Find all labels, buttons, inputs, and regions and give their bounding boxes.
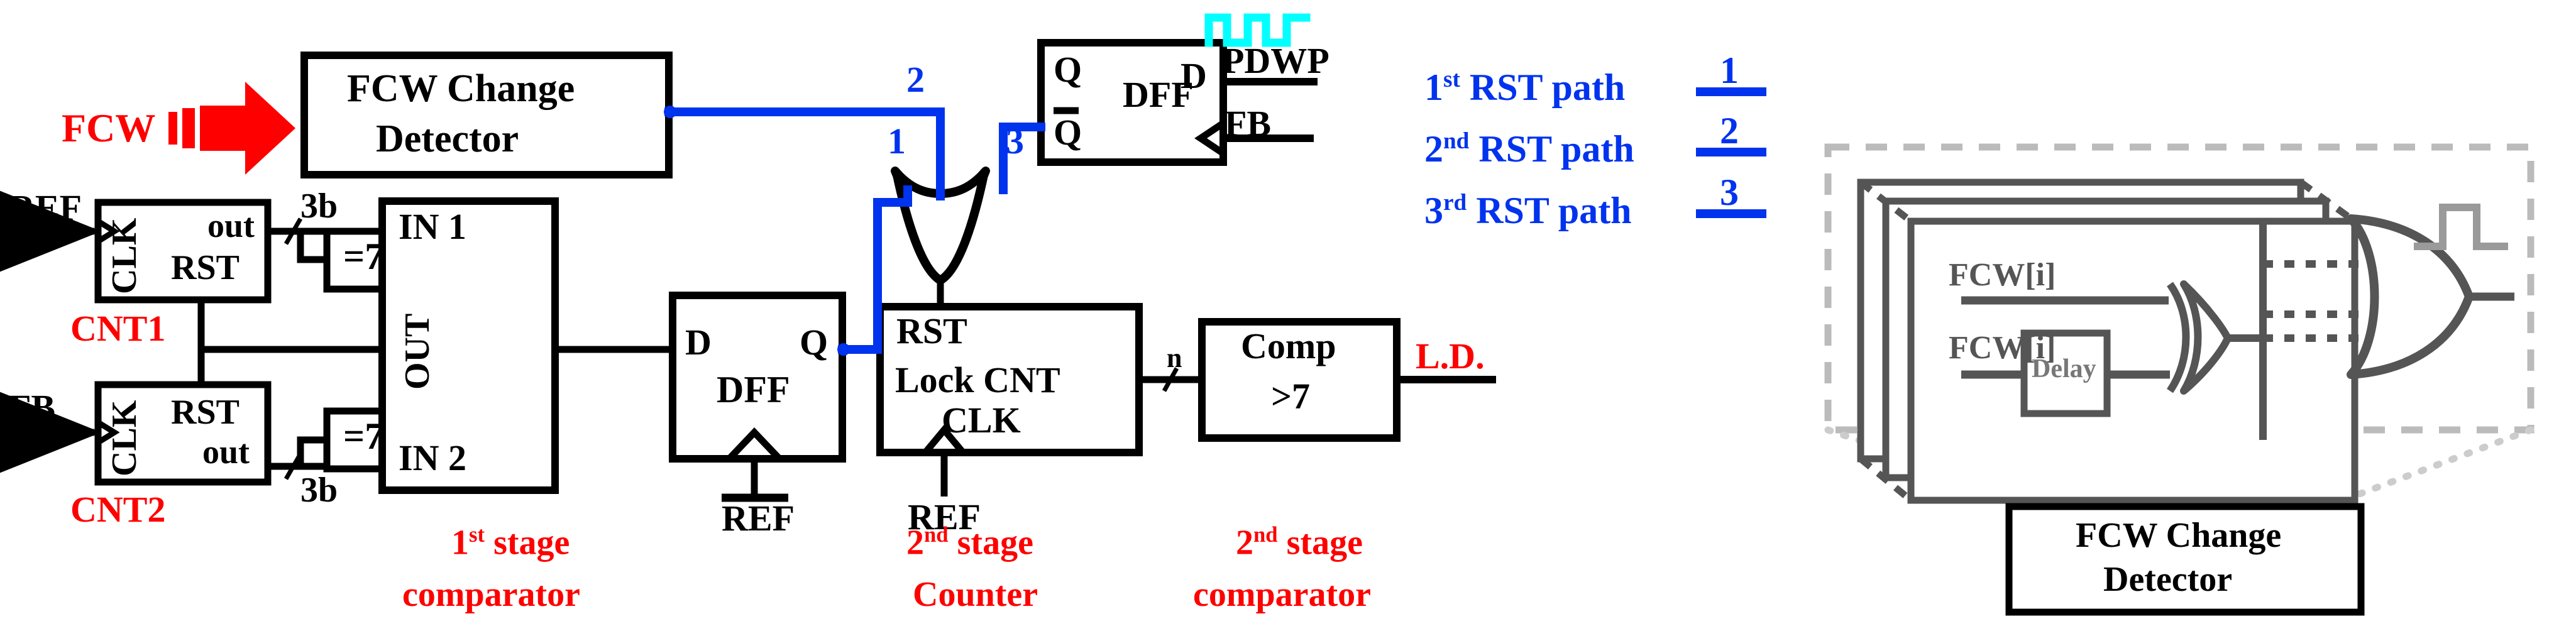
rst-path-tag-2: 2	[906, 62, 925, 98]
rst-lock-cnt-rst-label: RST	[896, 313, 967, 349]
caption-stage1-line1: 1st stage	[451, 524, 570, 561]
cnt1-clk-port-label: CLK	[107, 218, 142, 294]
cnt1-bus-width-label: 3b	[300, 189, 338, 224]
fcw-change-detector-line2: Detector	[376, 119, 519, 158]
rst-lock-cnt-name-label: Lock CNT	[895, 362, 1060, 398]
inset-caption-line1: FCW Change	[2076, 518, 2281, 553]
cnt2-rst-port-label: RST	[171, 395, 239, 430]
caption-stage1-ord: st	[469, 522, 485, 547]
legend-tag-3: 3	[1720, 173, 1739, 211]
legend-row-2-num: 2	[1424, 128, 1443, 170]
cnt1-clk-source-label: REF	[9, 190, 82, 226]
caption-stage2comp-line1: 2nd stage	[1236, 524, 1363, 561]
legend-row-1: 1st RST path	[1424, 68, 1625, 106]
caption-stage2counter-ord: nd	[924, 522, 949, 547]
dff-mid-q-port-label: Q	[800, 324, 828, 361]
fcw-arrow-icon	[168, 82, 295, 175]
cnt2-out-port-label: out	[202, 435, 250, 469]
lock-detect-output-label: L.D.	[1416, 338, 1485, 375]
caption-stage1-num: 1	[451, 524, 469, 562]
rst-lock-cnt-bus-width-label: n	[1167, 344, 1182, 372]
legend-tag-2: 2	[1720, 112, 1739, 150]
rst-lock-cnt-clk-label: CLK	[942, 402, 1021, 439]
comp-line1-label: Comp	[1241, 328, 1336, 365]
dff-mid-name-label: DFF	[717, 371, 790, 409]
legend-row-3: 3rd RST path	[1424, 191, 1632, 229]
legend-row-2: 2nd RST path	[1424, 129, 1634, 168]
caption-stage2counter-line1: 2nd stage	[906, 524, 1033, 561]
rst-path-tag-1: 1	[888, 123, 906, 160]
diagram-canvas: FCW FCW Change Detector REF CLK RST out …	[0, 0, 2576, 631]
eq7-bottom-label: =7	[343, 417, 383, 455]
caption-stage1-rest: stage	[485, 524, 570, 562]
inset-caption-line2: Detector	[2103, 562, 2232, 597]
inset-or-gate	[2351, 219, 2469, 375]
pdwp-waveform-icon	[1209, 18, 1306, 43]
legend-tag-1: 1	[1720, 52, 1739, 89]
caption-stage2comp-line2: comparator	[1193, 577, 1371, 612]
fcw-change-detector-line1: FCW Change	[347, 69, 575, 108]
stage1-in1-label: IN 1	[399, 209, 466, 245]
cnt1-name-label: CNT1	[70, 310, 165, 347]
cnt2-clk-source-label: FB	[9, 390, 55, 426]
legend-row-3-ord: rd	[1443, 190, 1467, 216]
cnt2-bus-width-label: 3b	[300, 473, 338, 508]
caption-stage2counter-line2: Counter	[913, 577, 1038, 612]
legend-row-1-num: 1	[1424, 67, 1443, 108]
cnt2-clk-port-label: CLK	[107, 400, 142, 476]
dff-out-qbar-port-label: Q	[1054, 114, 1082, 151]
dff-mid-d-port-label: D	[685, 324, 712, 361]
caption-stage2comp-num: 2	[1236, 524, 1253, 562]
rst-path-tag-3: 3	[1006, 123, 1024, 160]
legend-row-1-rest: RST path	[1460, 67, 1625, 108]
eq7-top-label: =7	[343, 238, 383, 275]
pdwp-signal-label: PDWP	[1222, 43, 1329, 79]
comp-line2-label: >7	[1271, 378, 1310, 415]
stage1-out-label: OUT	[400, 314, 435, 390]
legend-row-1-ord: st	[1443, 67, 1460, 92]
caption-stage2counter-rest: stage	[949, 524, 1033, 562]
caption-stage2comp-ord: nd	[1253, 522, 1278, 547]
cnt1-rst-port-label: RST	[171, 250, 239, 285]
dff-mid-clk-source-label: REF	[722, 500, 795, 537]
legend-row-2-ord: nd	[1443, 128, 1469, 154]
cnt2-name-label: CNT2	[70, 491, 165, 528]
caption-stage2counter-num: 2	[906, 524, 924, 562]
inset-delay-label: Delay	[2032, 356, 2096, 382]
dff-out-d-port-label: D	[1181, 58, 1207, 94]
legend-row-3-num: 3	[1424, 190, 1443, 231]
cnt1-out-port-label: out	[207, 209, 255, 243]
fb-signal-label: FB	[1225, 106, 1271, 142]
caption-stage2comp-rest: stage	[1278, 524, 1363, 562]
dff-out-q-port-label: Q	[1054, 52, 1082, 88]
legend-row-2-rest: RST path	[1469, 128, 1634, 170]
fcw-input-label: FCW	[62, 108, 155, 148]
caption-stage1-line2: comparator	[402, 577, 580, 612]
stage1-in2-label: IN 2	[399, 440, 466, 476]
inset-fcw-label-top: FCW[i]	[1949, 259, 2056, 292]
legend-row-3-rest: RST path	[1467, 190, 1631, 231]
